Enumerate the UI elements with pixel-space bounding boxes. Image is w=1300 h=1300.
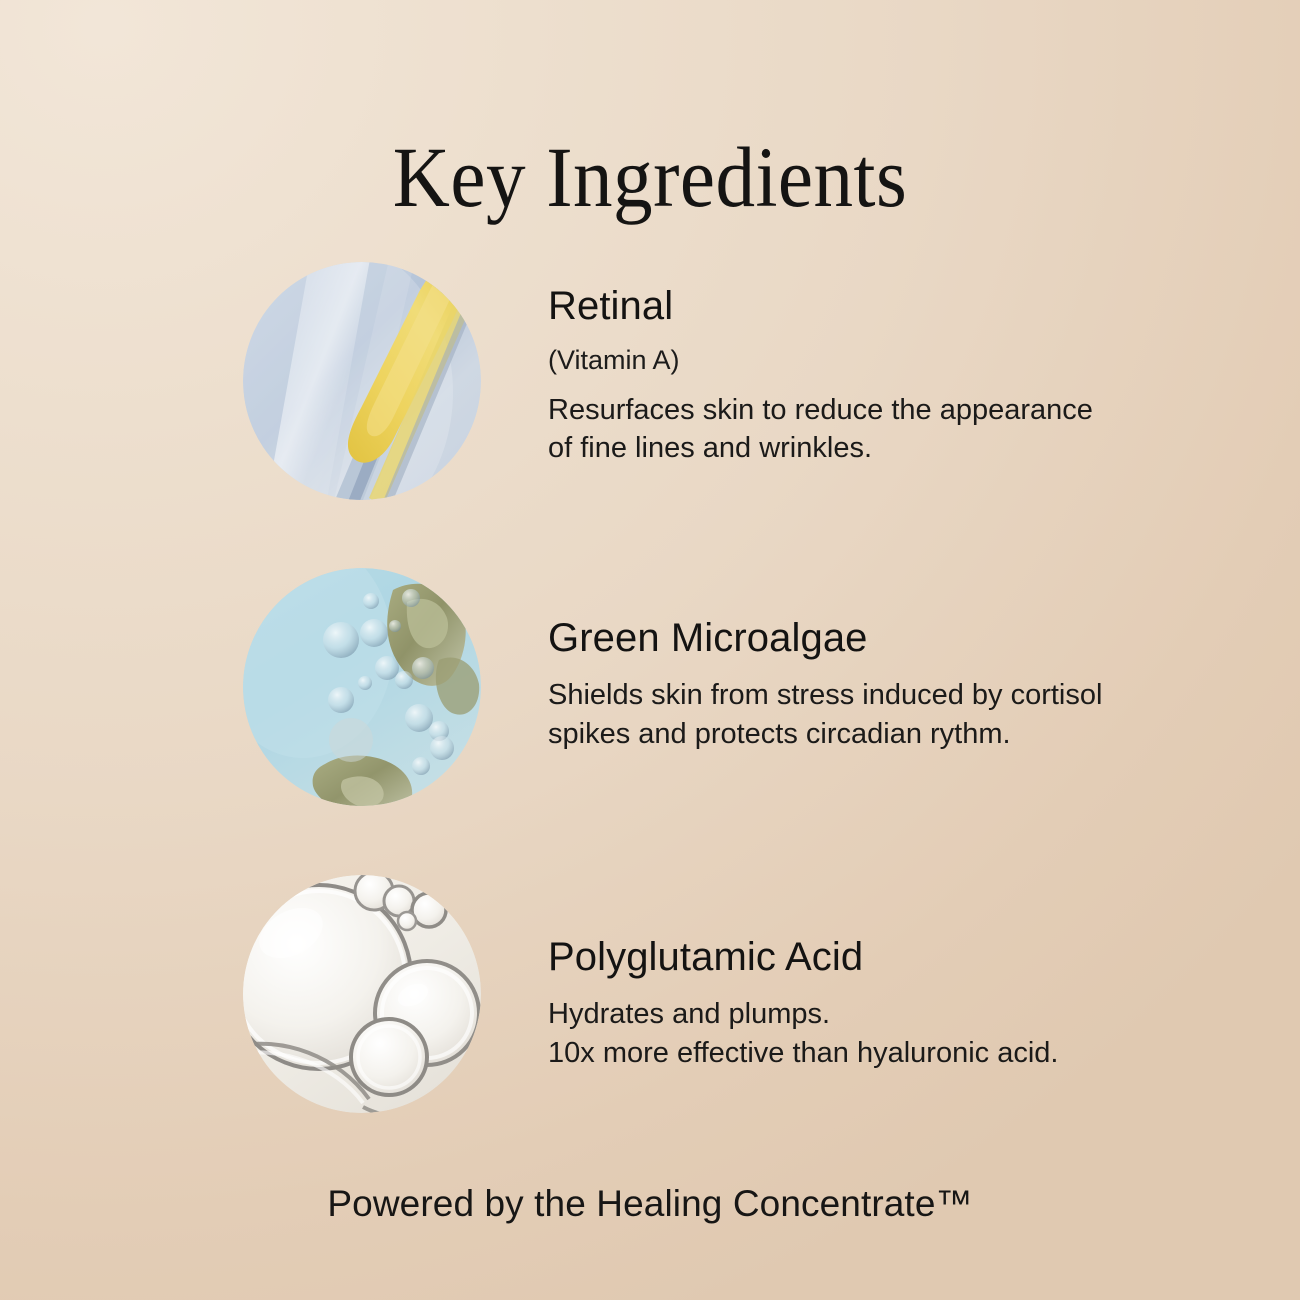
ingredient-description: Shields skin from stress induced by cort… [548, 676, 1108, 753]
ingredient-name: Polyglutamic Acid [548, 935, 1108, 979]
ingredient-image-polyglutamic-acid [243, 875, 481, 1113]
key-ingredients-panel: Key Ingredients [0, 0, 1300, 1300]
ingredient-row-polyglutamic-acid: Polyglutamic Acid Hydrates and plumps. 1… [0, 875, 1300, 1125]
ingredient-description: Hydrates and plumps. 10x more effective … [548, 995, 1108, 1072]
ingredient-name: Retinal [548, 284, 1108, 328]
ingredient-copy-polyglutamic-acid: Polyglutamic Acid Hydrates and plumps. 1… [548, 935, 1108, 1072]
footer-tagline: Powered by the Healing Concentrate™ [0, 1182, 1300, 1226]
ingredient-subtitle: (Vitamin A) [548, 344, 1108, 378]
ingredient-row-green-microalgae: Green Microalgae Shields skin from stres… [0, 568, 1300, 818]
ingredient-image-green-microalgae [243, 568, 481, 806]
ingredient-description: Resurfaces skin to reduce the appearance… [548, 391, 1108, 468]
ingredient-row-retinal: Retinal (Vitamin A) Resurfaces skin to r… [0, 262, 1300, 512]
ingredient-copy-green-microalgae: Green Microalgae Shields skin from stres… [548, 616, 1108, 753]
ingredient-name: Green Microalgae [548, 616, 1108, 660]
ingredient-image-retinal [243, 262, 481, 500]
page-title: Key Ingredients [52, 132, 1248, 222]
ingredient-copy-retinal: Retinal (Vitamin A) Resurfaces skin to r… [548, 284, 1108, 468]
